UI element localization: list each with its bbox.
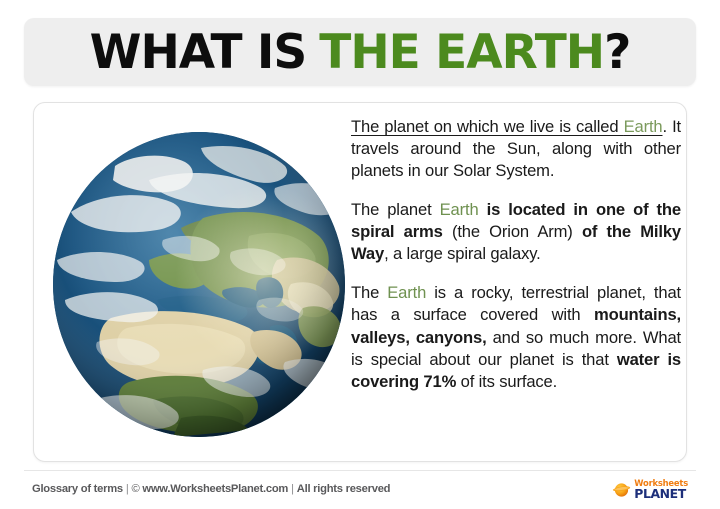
location-space	[479, 200, 487, 219]
footer-website-link[interactable]: www.WorksheetsPlanet.com	[142, 483, 288, 495]
location-orion-arm: (the Orion Arm)	[452, 222, 582, 241]
footer-glossary-label[interactable]: Glossary of terms	[32, 483, 123, 495]
paragraph-location: The planet Earth is located in one of th…	[351, 199, 681, 265]
page-title-part-highlight: THE EARTH	[319, 29, 604, 76]
definition-underlined-lead: The planet on which we live is called Ea…	[351, 117, 663, 136]
copyright-icon: ©	[132, 483, 140, 495]
footer-bar: Glossary of terms|© www.WorksheetsPlanet…	[24, 471, 696, 509]
planet-logo-icon	[612, 480, 631, 499]
page-title: WHAT IS THE EARTH ?	[24, 49, 696, 54]
footer-separator-1: |	[123, 483, 132, 495]
footer-rights-label: All rights reserved	[297, 483, 391, 495]
earth-globe-image	[53, 132, 345, 437]
location-run-end: , a large spiral galaxy.	[384, 244, 541, 263]
article-text-column: The planet on which we live is called Ea…	[351, 116, 681, 393]
page-title-part-1: WHAT IS	[90, 29, 307, 76]
footer-separator-2: |	[288, 483, 297, 495]
earth-figure	[53, 132, 345, 437]
definition-lead-text: The planet on which we live is called	[351, 117, 624, 136]
header-banner: WHAT IS THE EARTH ?	[24, 18, 696, 86]
surface-run-end: of its surface.	[456, 372, 557, 391]
logo-word-planet: PLANET	[634, 488, 688, 500]
paragraph-surface: The Earth is a rocky, terrestrial planet…	[351, 282, 681, 392]
surface-earth-keyword: Earth	[387, 283, 426, 302]
content-card: The planet on which we live is called Ea…	[33, 102, 687, 462]
location-earth-keyword: Earth	[440, 200, 479, 219]
location-run-1: The planet	[351, 200, 440, 219]
definition-earth-keyword: Earth	[624, 117, 663, 136]
paragraph-definition: The planet on which we live is called Ea…	[351, 116, 681, 182]
page-title-question-mark: ?	[604, 29, 630, 76]
site-logo[interactable]: Worksheets PLANET	[612, 479, 688, 501]
surface-run-1: The	[351, 283, 387, 302]
footer-credit-line: Glossary of terms|© www.WorksheetsPlanet…	[32, 483, 390, 495]
logo-wordmark: Worksheets PLANET	[634, 479, 688, 501]
